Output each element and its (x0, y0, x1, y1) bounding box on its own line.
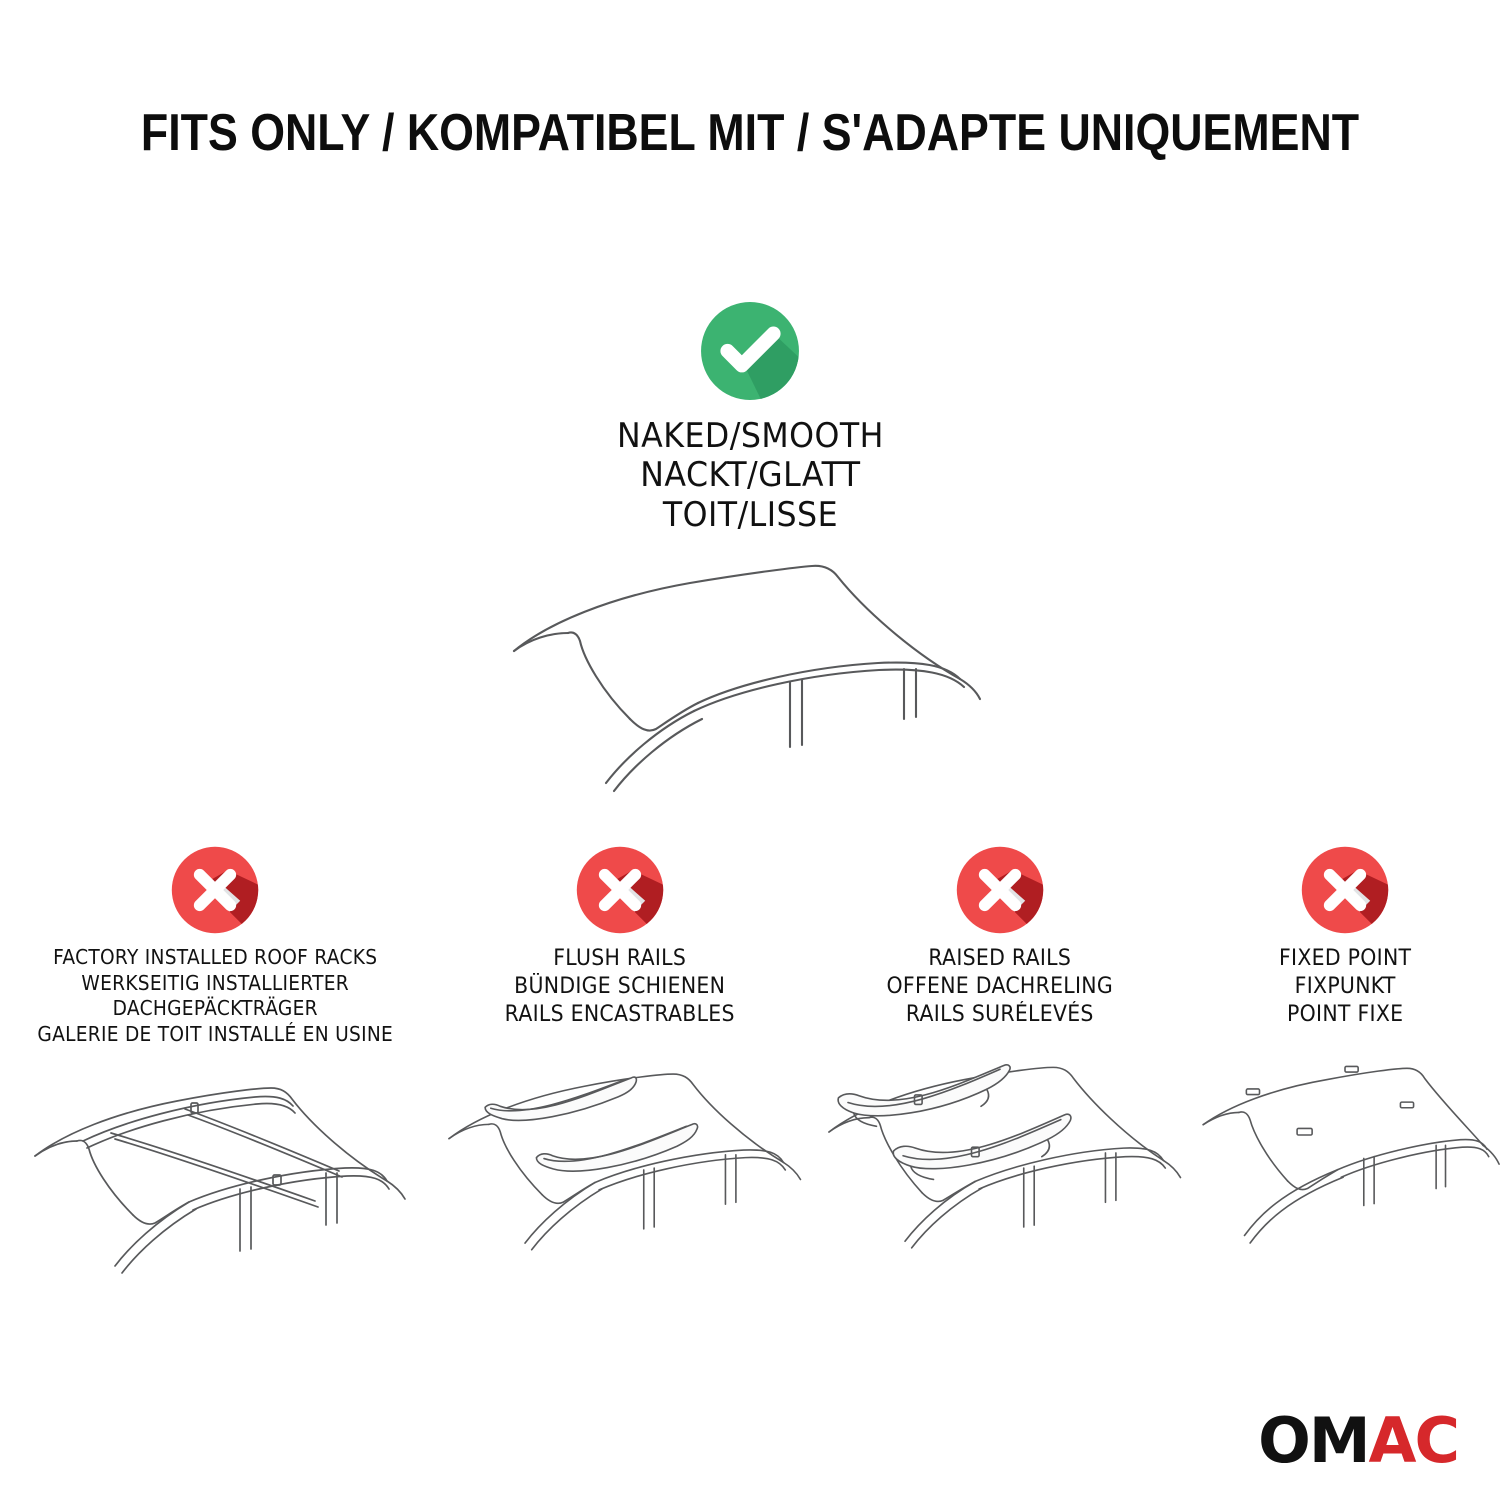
incompatible-caption: RAISED RAILS OFFENE DACHRELING RAILS SUR… (878, 945, 1122, 1029)
omac-logo: OM AC (1258, 1410, 1458, 1472)
red-x-icon (1300, 845, 1390, 935)
caption-line-3: RAILS ENCASTRABLES (505, 1001, 735, 1029)
green-check-icon (699, 300, 801, 402)
compatible-section: NAKED/SMOOTH NACKT/GLATT TOIT/LISSE (0, 300, 1500, 821)
caption-line-1: FACTORY INSTALLED ROOF RACKS (37, 945, 393, 971)
car-roof-flush-rails-illustration (430, 1043, 810, 1258)
red-x-icon (955, 845, 1045, 935)
compatible-line-2: NACKT/GLATT (617, 456, 884, 495)
incompatible-item-flush-rails: FLUSH RAILS BÜNDIGE SCHIENEN RAILS ENCAS… (430, 845, 810, 1258)
compatible-line-3: TOIT/LISSE (617, 496, 884, 535)
car-roof-raised-rails-illustration (810, 1043, 1190, 1258)
compatible-line-1: NAKED/SMOOTH (617, 417, 884, 456)
caption-line-1: FIXED POINT (1279, 945, 1411, 973)
infographic-page: FITS ONLY / KOMPATIBEL MIT / S'ADAPTE UN… (0, 0, 1500, 1500)
car-roof-factory-rack-illustration (0, 1061, 430, 1276)
car-roof-naked-smooth-illustration (490, 551, 1010, 821)
caption-line-3: RAILS SURÉLEVÉS (887, 1001, 1113, 1029)
incompatible-section: FACTORY INSTALLED ROOF RACKS WERKSEITIG … (0, 845, 1500, 1276)
caption-line-2: BÜNDIGE SCHIENEN (505, 973, 735, 1001)
caption-line-1: FLUSH RAILS (505, 945, 735, 973)
red-x-icon (170, 845, 260, 935)
caption-line-3: POINT FIXE (1279, 1001, 1411, 1029)
red-x-icon (575, 845, 665, 935)
incompatible-item-factory-rack: FACTORY INSTALLED ROOF RACKS WERKSEITIG … (0, 845, 430, 1276)
caption-line-2: OFFENE DACHRELING (887, 973, 1113, 1001)
incompatible-item-fixed-point: FIXED POINT FIXPUNKT POINT FIXE (1190, 845, 1500, 1258)
incompatible-caption: FACTORY INSTALLED ROOF RACKS WERKSEITIG … (24, 945, 406, 1047)
page-title: FITS ONLY / KOMPATIBEL MIT / S'ADAPTE UN… (105, 103, 1395, 163)
caption-line-3: DACHGEPÄCKTRÄGER (37, 996, 393, 1022)
logo-text-dark: OM (1258, 1410, 1368, 1472)
caption-line-1: RAISED RAILS (887, 945, 1113, 973)
caption-line-4: GALERIE DE TOIT INSTALLÉ EN USINE (37, 1022, 393, 1048)
car-roof-fixed-point-illustration (1190, 1043, 1500, 1258)
compatible-caption: NAKED/SMOOTH NACKT/GLATT TOIT/LISSE (607, 417, 894, 535)
caption-line-2: WERKSEITIG INSTALLIERTER (37, 971, 393, 997)
caption-line-2: FIXPUNKT (1279, 973, 1411, 1001)
incompatible-caption: FLUSH RAILS BÜNDIGE SCHIENEN RAILS ENCAS… (496, 945, 743, 1029)
incompatible-item-raised-rails: RAISED RAILS OFFENE DACHRELING RAILS SUR… (810, 845, 1190, 1258)
incompatible-caption: FIXED POINT FIXPUNKT POINT FIXE (1274, 945, 1416, 1029)
logo-text-red: AC (1369, 1410, 1458, 1472)
